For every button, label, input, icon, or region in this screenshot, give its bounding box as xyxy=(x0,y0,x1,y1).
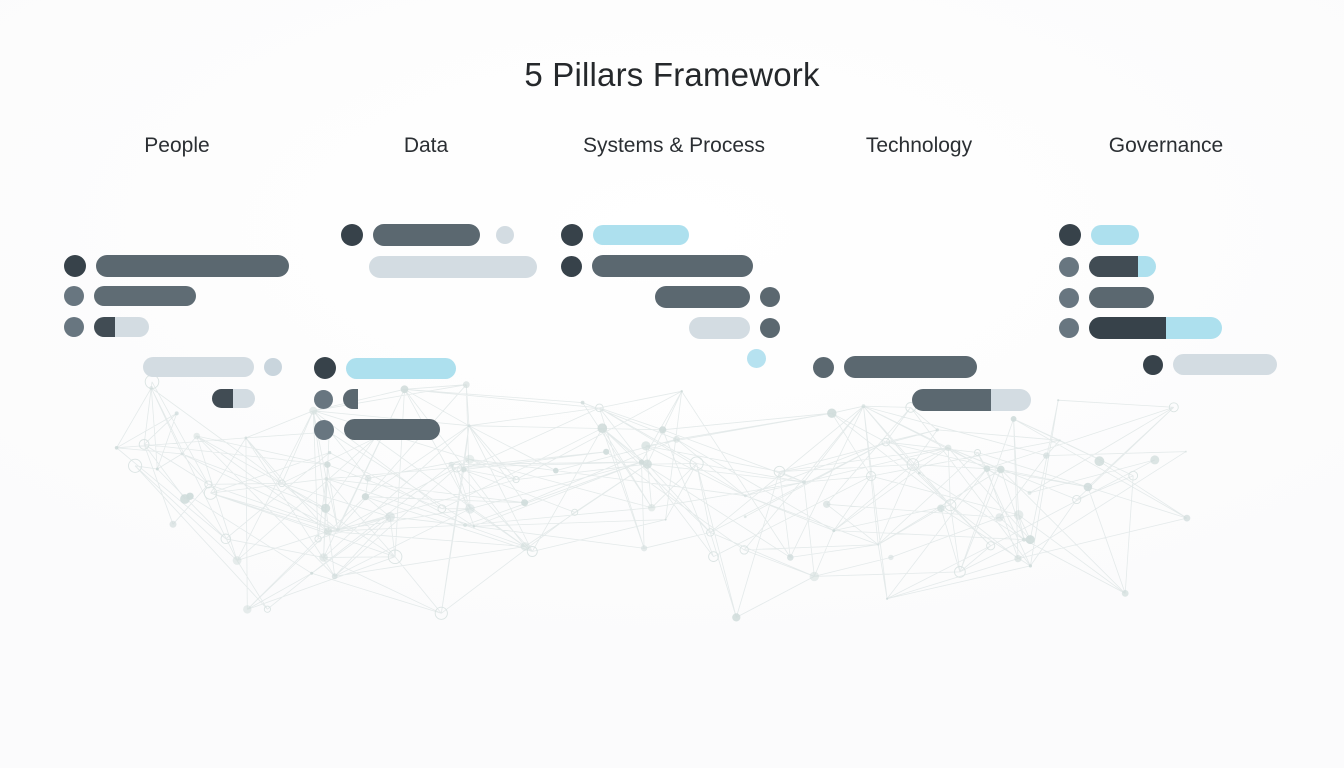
row-bar xyxy=(1089,256,1156,277)
row-bar xyxy=(96,255,289,277)
pillar-row-gov xyxy=(1143,354,1277,375)
pillar-row-gov xyxy=(1059,287,1154,308)
row-marker-dot xyxy=(314,390,333,409)
bar-segment xyxy=(593,225,689,245)
row-marker-dot xyxy=(1059,288,1079,308)
row-bar xyxy=(1091,225,1139,245)
pillar-row-people xyxy=(143,357,282,377)
bar-segment xyxy=(233,389,255,408)
row-marker-dot xyxy=(64,317,84,337)
pillar-row-tech xyxy=(912,389,1031,411)
pillar-row-systems xyxy=(655,286,780,308)
bar-segment xyxy=(143,357,254,377)
framework-canvas: 5 Pillars Framework PeopleDataSystems & … xyxy=(0,0,1344,768)
row-bar xyxy=(689,317,750,339)
row-trailing-dot xyxy=(496,226,514,244)
row-bar xyxy=(143,357,254,377)
row-bar xyxy=(844,356,977,378)
row-bar xyxy=(593,225,689,245)
bar-segment xyxy=(592,255,753,277)
bar-segment xyxy=(369,256,537,278)
pillar-row-systems xyxy=(747,349,766,368)
bar-segment xyxy=(912,389,991,411)
pillar-row-data xyxy=(314,419,440,440)
row-bar xyxy=(344,419,440,440)
bar-segment xyxy=(96,255,289,277)
pillar-row-systems xyxy=(561,255,753,277)
row-bar xyxy=(912,389,1031,411)
pillar-row-systems xyxy=(561,224,689,246)
pillar-row-gov xyxy=(1059,256,1156,277)
bar-segment xyxy=(212,389,233,408)
bar-segment xyxy=(1138,256,1156,277)
pillar-row-systems xyxy=(689,317,780,339)
bar-segment xyxy=(373,224,480,246)
row-marker-dot xyxy=(760,287,780,307)
pillar-row-data xyxy=(314,357,456,379)
row-bar xyxy=(592,255,753,277)
row-bar xyxy=(373,224,480,246)
row-bar xyxy=(1089,287,1154,308)
row-marker-dot xyxy=(314,420,334,440)
pillar-row-gov xyxy=(1059,224,1139,246)
row-marker-dot xyxy=(747,349,766,368)
pillar-row-people xyxy=(64,255,289,277)
row-marker-dot xyxy=(1059,224,1081,246)
row-bar xyxy=(346,358,456,379)
row-marker-dot xyxy=(760,318,780,338)
bar-segment xyxy=(991,389,1031,411)
row-bar xyxy=(343,389,358,409)
bar-segment xyxy=(689,317,750,339)
row-marker-dot xyxy=(1059,318,1079,338)
pillar-row-gov xyxy=(1059,317,1222,339)
pillar-row-people xyxy=(64,286,196,306)
row-bar xyxy=(1089,317,1222,339)
bar-segment xyxy=(115,317,149,337)
row-marker-dot xyxy=(1059,257,1079,277)
row-bar xyxy=(212,389,255,408)
bar-segment xyxy=(1089,317,1166,339)
pillar-row-data xyxy=(341,224,514,246)
bar-segment xyxy=(94,317,115,337)
row-bar xyxy=(369,256,537,278)
row-marker-dot xyxy=(813,357,834,378)
bar-segment xyxy=(1091,225,1139,245)
bar-segment xyxy=(344,419,440,440)
pillar-row-people xyxy=(212,389,255,408)
bar-segment xyxy=(1166,317,1222,339)
row-bar xyxy=(655,286,750,308)
row-marker-dot xyxy=(264,358,282,376)
row-bar xyxy=(94,317,149,337)
row-marker-dot xyxy=(561,256,582,277)
pillar-rows xyxy=(0,0,1344,768)
pillar-row-data xyxy=(369,256,537,278)
bar-segment xyxy=(94,286,196,306)
row-marker-dot xyxy=(64,286,84,306)
bar-segment xyxy=(1089,287,1154,308)
pillar-row-tech xyxy=(813,356,977,378)
bar-segment xyxy=(1089,256,1138,277)
row-marker-dot xyxy=(561,224,583,246)
bar-segment xyxy=(844,356,977,378)
pillar-row-data xyxy=(314,389,358,409)
row-bar xyxy=(1173,354,1277,375)
bar-segment xyxy=(346,358,456,379)
row-bar xyxy=(94,286,196,306)
bar-segment xyxy=(655,286,750,308)
row-marker-dot xyxy=(64,255,86,277)
row-marker-dot xyxy=(314,357,336,379)
bar-segment xyxy=(343,389,358,409)
row-marker-dot xyxy=(1143,355,1163,375)
row-marker-dot xyxy=(341,224,363,246)
bar-segment xyxy=(1173,354,1277,375)
pillar-row-people xyxy=(64,317,149,337)
